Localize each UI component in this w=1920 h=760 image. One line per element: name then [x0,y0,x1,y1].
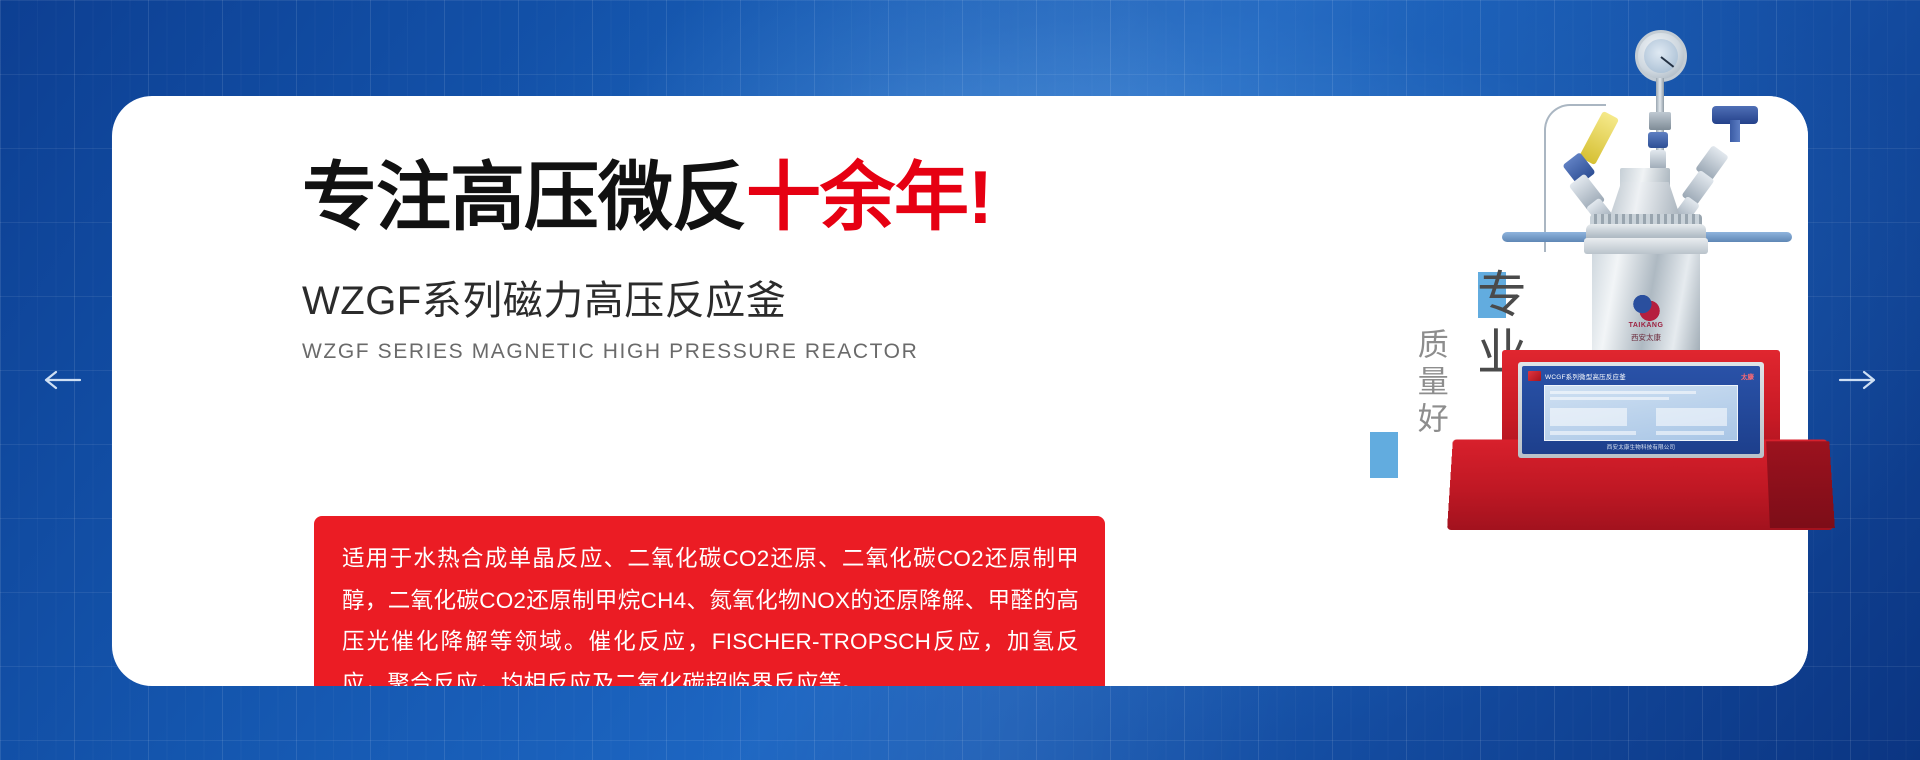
pressure-gauge-icon [1635,30,1687,82]
center-valve-blue [1648,132,1668,148]
headline-exclamation: ! [968,155,992,239]
product-image: TAIKANG 西安太康 WCGF系列微型高压反应釜 太康 西安太康生物科技有限… [1440,20,1840,610]
control-panel-face: WCGF系列微型高压反应釜 太康 西安太康生物科技有限公司 [1522,366,1760,454]
screen-row [1656,431,1723,435]
screen-row [1550,408,1627,426]
vessel-brand-cn: 西安太康 [1592,332,1700,343]
panel-footer-text: 西安太康生物科技有限公司 [1522,443,1760,451]
carousel-next-button[interactable] [1830,352,1886,408]
slogan-square-bottom [1370,432,1398,478]
screen-row [1550,431,1636,435]
headline-black-text: 专注高压微反 [302,153,746,241]
banner-text-block: 专注高压微反十余年! WZGF系列磁力高压反应釜 WZGF SERIES MAG… [302,158,1162,364]
gauge-needle [1660,56,1674,67]
screen-row [1656,408,1727,426]
screen-row [1550,397,1669,400]
description-box: 适用于水热合成单晶反应、二氧化碳CO2还原、二氧化碳CO2还原制甲醇，二氧化碳C… [314,516,1105,686]
panel-touchscreen[interactable] [1544,385,1738,441]
panel-title-text: WCGF系列微型高压反应釜 [1545,371,1626,381]
control-panel: WCGF系列微型高压反应釜 太康 西安太康生物科技有限公司 [1518,362,1764,458]
arrow-left-icon [40,366,84,394]
right-valve-stem [1730,120,1740,142]
vessel-brand-en: TAIKANG [1592,322,1700,329]
taikang-logo-icon [1631,294,1661,322]
panel-brand-text: 太康 [1741,371,1754,381]
panel-logo-icon [1528,371,1541,381]
screen-row [1550,391,1696,394]
subtitle-english: WZGF SERIES MAGNETIC HIGH PRESSURE REACT… [302,340,1162,364]
gauge-face [1644,39,1678,73]
gauge-nut [1649,112,1671,130]
control-panel-header: WCGF系列微型高压反应釜 太康 [1528,370,1754,382]
center-valve-steel [1650,150,1666,170]
carousel-prev-button[interactable] [34,352,90,408]
headline-red-text: 十余年 [746,153,968,241]
description-text: 适用于水热合成单晶反应、二氧化碳CO2还原、二氧化碳CO2还原制甲醇，二氧化碳C… [342,538,1079,686]
subtitle-chinese: WZGF系列磁力高压反应釜 [302,268,1162,326]
page-title: 专注高压微反十余年! [302,158,1162,238]
arrow-right-icon [1836,366,1880,394]
